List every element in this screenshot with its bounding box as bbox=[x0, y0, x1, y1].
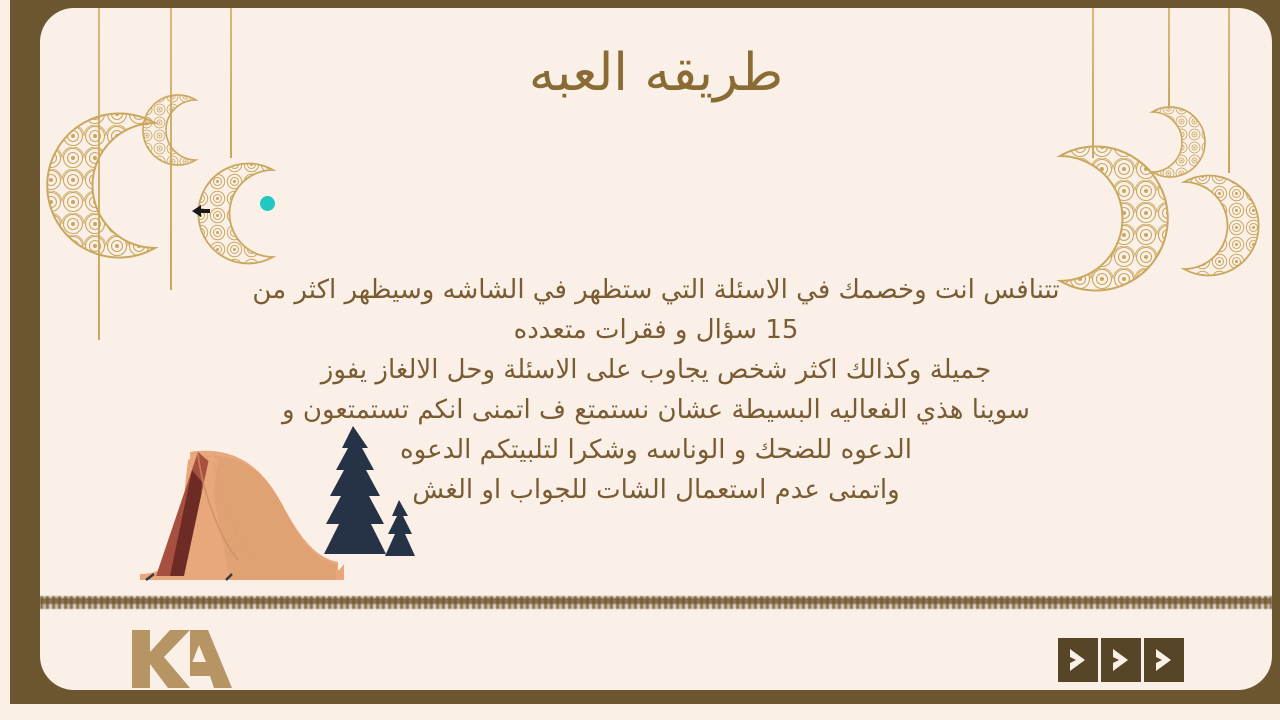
body-line-1: تتنافس انت وخصمك في الاسئلة التي ستظهر ف… bbox=[156, 270, 1156, 310]
chevron-right-icon-1[interactable] bbox=[1058, 638, 1098, 682]
slide-frame-bottom bbox=[10, 690, 1280, 704]
left-arrow-cursor-icon bbox=[190, 200, 212, 222]
turquoise-click-dot bbox=[260, 196, 275, 211]
next-button[interactable] bbox=[1058, 638, 1184, 682]
page-title: طريقه العبه bbox=[40, 42, 1272, 104]
ground-strip bbox=[40, 596, 1272, 609]
chevron-right-icon-2[interactable] bbox=[1101, 638, 1141, 682]
pine-tree-icon-large bbox=[324, 426, 386, 554]
slide-card: طريقه العبه تتنافس انت وخصمك في الاسئلة … bbox=[40, 8, 1272, 690]
body-line-3: جميلة وكذالك اكثر شخص يجاوب على الاسئلة … bbox=[156, 350, 1156, 390]
pine-tree-icon-small bbox=[385, 500, 415, 556]
camping-illustration bbox=[110, 408, 470, 608]
body-line-2: 15 سؤال و فقرات متعدده bbox=[156, 310, 1156, 350]
slide-stage: طريقه العبه تتنافس انت وخصمك في الاسئلة … bbox=[0, 0, 1280, 720]
crescent-moon-icon-right-medium bbox=[1160, 168, 1265, 283]
chevron-right-icon-3[interactable] bbox=[1144, 638, 1184, 682]
brand-logo-ka bbox=[128, 628, 238, 690]
